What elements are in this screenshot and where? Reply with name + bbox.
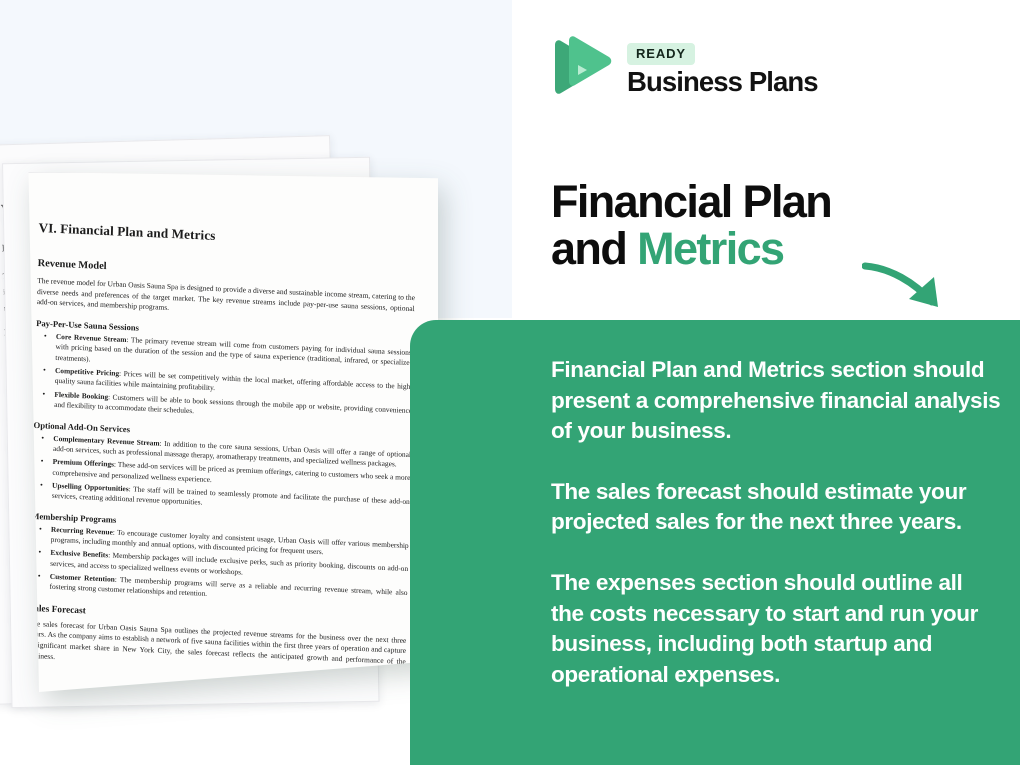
slide-canvas: V Re The inc stre Pay Op M VI. Financial… xyxy=(0,0,1020,765)
headline-line-2: and Metrics xyxy=(551,225,831,272)
headline-line-1: Financial Plan xyxy=(551,178,831,225)
brand-name: Business Plans xyxy=(627,68,818,96)
panel-paragraph: The sales forecast should estimate your … xyxy=(551,477,1001,538)
brand-lockup[interactable]: READY Business Plans xyxy=(551,33,818,105)
curved-arrow-down-right-icon xyxy=(862,258,958,320)
ready-badge: READY xyxy=(627,43,695,65)
double-play-triangle-logo-icon xyxy=(551,33,613,105)
page-title: Financial Plan and Metrics xyxy=(551,178,831,273)
document-title: VI. Financial Plan and Metrics xyxy=(38,220,416,253)
document-page: VI. Financial Plan and Metrics Revenue M… xyxy=(5,173,438,712)
panel-paragraph: The expenses section should outline all … xyxy=(551,568,1001,690)
headline-accent-word: Metrics xyxy=(637,223,783,274)
bullet-term: Flexible Booking xyxy=(54,389,108,400)
document-sheet-front: VI. Financial Plan and Metrics Revenue M… xyxy=(18,172,438,692)
document-bullet-list: Recurring Revenue: To encourage customer… xyxy=(29,524,408,609)
panel-description: Financial Plan and Metrics section shoul… xyxy=(551,355,1001,690)
document-bullet-list: Complementary Revenue Stream: In additio… xyxy=(32,432,411,517)
bullet-term: Exclusive Benefits xyxy=(50,548,108,560)
headline-prefix: and xyxy=(551,223,637,274)
document-bullet-list: Core Revenue Stream: The primary revenue… xyxy=(34,331,414,427)
panel-paragraph: Financial Plan and Metrics section shoul… xyxy=(551,355,1001,447)
